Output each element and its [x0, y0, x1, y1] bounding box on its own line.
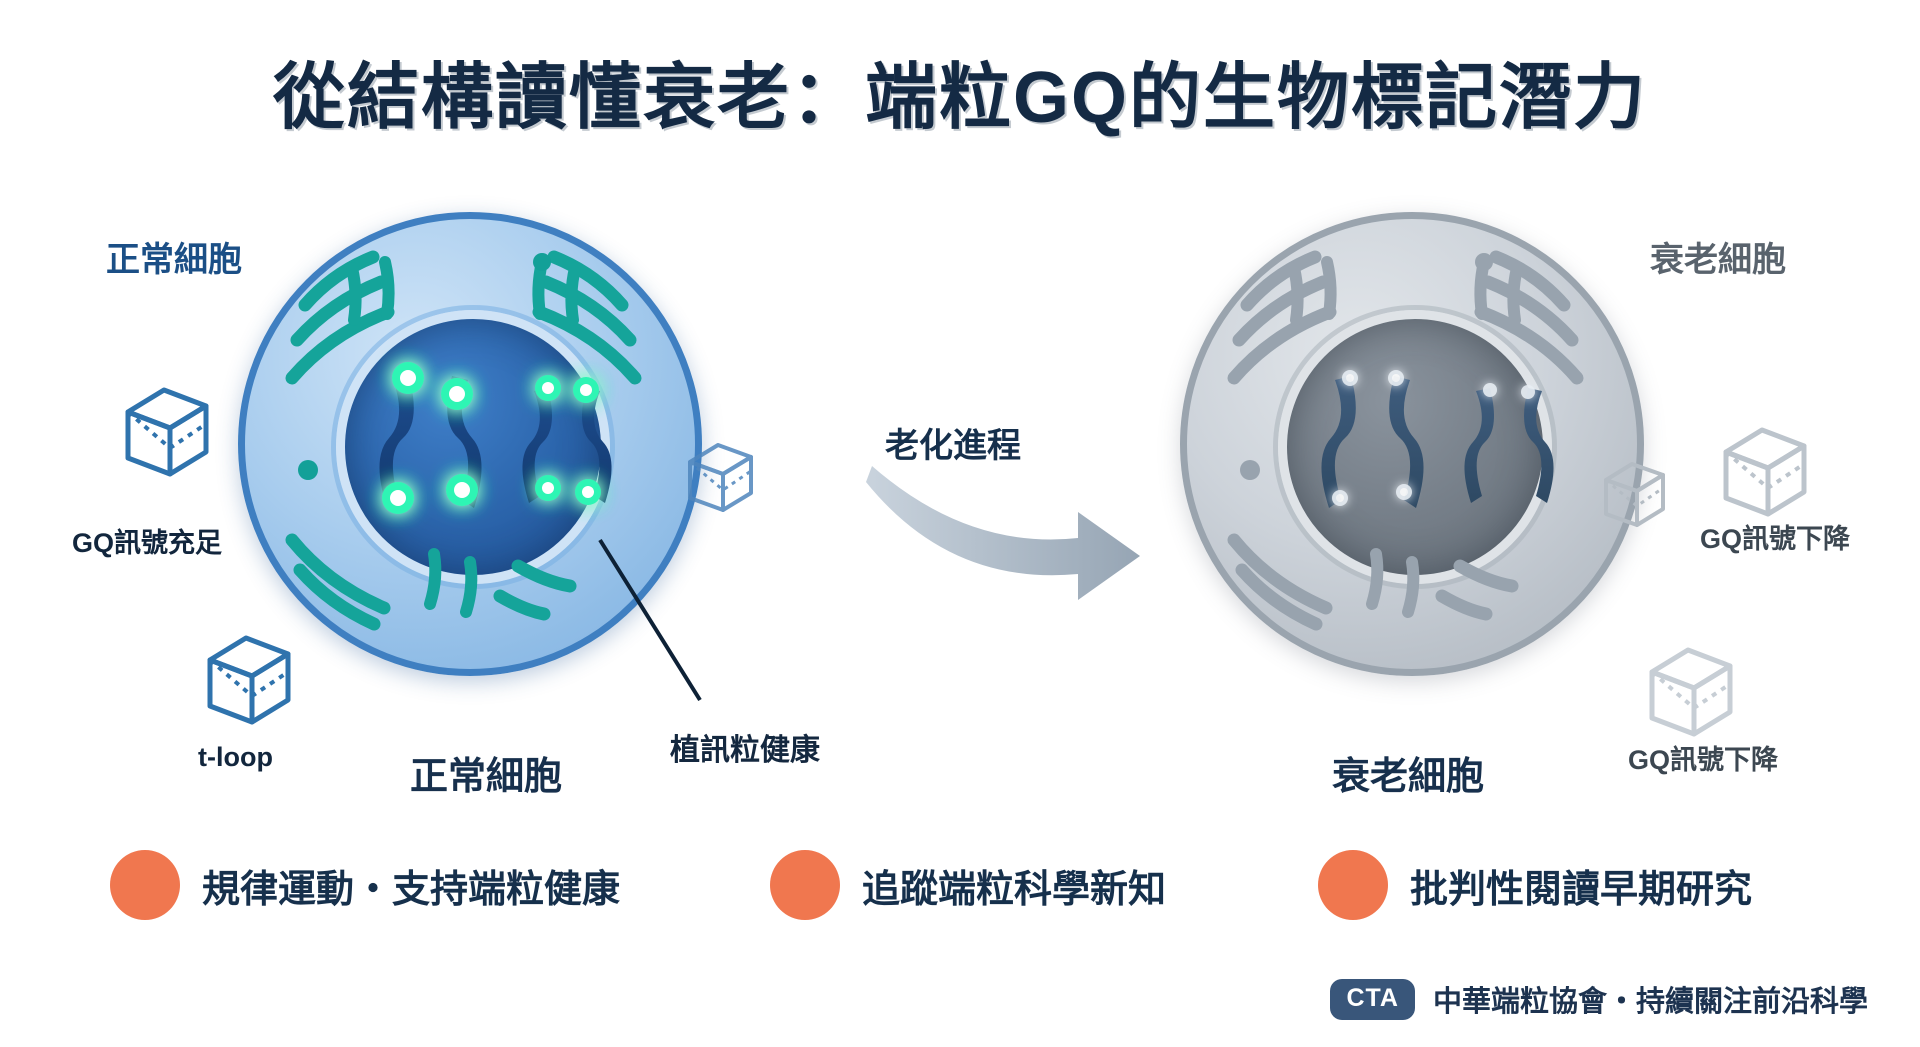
- aging-arrow-icon: [866, 466, 1140, 600]
- cta-label-reading: 批判性閱讀早期研究: [1410, 858, 1752, 913]
- page-title: 從結構讀懂衰老：端粒GQ的生物標記潛力: [0, 38, 1920, 143]
- cta-row: 規律運動・支持端粒健康 追蹤端粒科學新知 批判性閱讀早期研究: [0, 840, 1920, 960]
- normal-cell-top-label: 正常細胞: [106, 232, 242, 281]
- senescent-gq-label-lower: GQ訊號下降: [1628, 738, 1778, 777]
- cta-label-exercise: 規律運動・支持端粒健康: [202, 858, 620, 913]
- cta-badge: CTA: [1330, 979, 1415, 1020]
- gq-cube-icon-left-upper: [128, 390, 206, 474]
- normal-cell-nucleus: [336, 310, 610, 584]
- normal-gq-label: GQ訊號充足: [72, 521, 222, 560]
- telomere-health-callout: 植訊粒健康: [670, 725, 820, 769]
- cta-item-science[interactable]: 追蹤端粒科學新知: [770, 850, 1166, 920]
- gq-cube-icon-right-upper: [1726, 430, 1804, 514]
- runner-icon-badge: [110, 850, 180, 920]
- cta-label-science: 追蹤端粒科學新知: [862, 858, 1166, 913]
- senescent-gq-label-upper: GQ訊號下降: [1700, 517, 1850, 556]
- infographic-canvas: 從結構讀懂衰老：端粒GQ的生物標記潛力: [0, 0, 1920, 1047]
- cta-item-exercise[interactable]: 規律運動・支持端粒健康: [110, 850, 620, 920]
- footer-text: 中華端粒協會・持續關注前沿科學: [1433, 978, 1868, 1020]
- cta-item-reading[interactable]: 批判性閱讀早期研究: [1318, 850, 1752, 920]
- tloop-label: t-loop: [198, 742, 273, 773]
- senescent-cell-top-label: 衰老細胞: [1650, 232, 1786, 281]
- senescent-cell-nucleus: [1278, 310, 1552, 584]
- senescent-cell-bottom-label: 衰老細胞: [1332, 745, 1484, 800]
- normal-cell-bottom-label: 正常細胞: [410, 745, 562, 800]
- aging-process-label: 老化進程: [885, 418, 1021, 467]
- book-search-icon-badge: [1318, 850, 1388, 920]
- gq-cube-icon-right-lower: [1652, 650, 1730, 734]
- footer: CTA 中華端粒協會・持續關注前沿科學: [1330, 978, 1868, 1020]
- tloop-cube-icon: [210, 638, 288, 722]
- microscope-icon-badge: [770, 850, 840, 920]
